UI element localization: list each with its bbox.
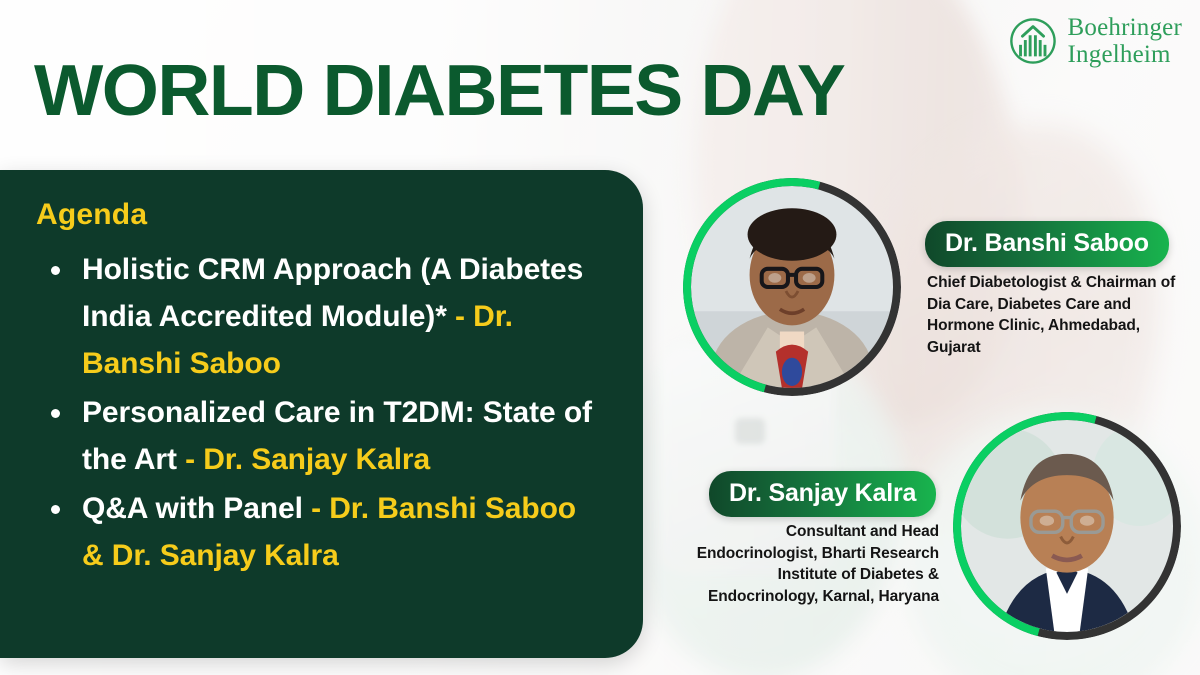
boehringer-ingelheim-logo-icon: [1009, 17, 1057, 65]
speaker-name-badge: Dr. Banshi Saboo: [925, 221, 1169, 267]
agenda-item-speaker: Dr. Sanjay Kalra: [203, 443, 430, 476]
avatar: [953, 412, 1181, 640]
agenda-item: Q&A with Panel - Dr. Banshi Saboo & Dr. …: [44, 485, 603, 579]
brand-logo: Boehringer Ingelheim: [1009, 14, 1182, 68]
page-title: WORLD DIABETES DAY: [34, 52, 844, 130]
speaker-bio: Chief Diabetologist & Chairman of Dia Ca…: [927, 272, 1193, 358]
agenda-item-separator: -: [447, 300, 473, 333]
avatar-ring-accent: [953, 412, 1181, 640]
agenda-item: Holistic CRM Approach (A Diabetes India …: [44, 246, 603, 387]
agenda-heading: Agenda: [36, 198, 603, 232]
speaker-name-badge: Dr. Sanjay Kalra: [709, 471, 936, 517]
agenda-item-separator: -: [177, 443, 203, 476]
brand-logo-text: Boehringer Ingelheim: [1068, 14, 1182, 68]
speaker-bio: Consultant and Head Endocrinologist, Bha…: [673, 521, 939, 607]
brand-logo-line1: Boehringer: [1068, 14, 1182, 41]
brand-logo-line2: Ingelheim: [1068, 41, 1182, 68]
avatar: [683, 178, 901, 396]
world-diabetes-day-slide: WORLD DIABETES DAY Boehringer Ingelheim …: [0, 0, 1200, 675]
avatar-ring-accent: [683, 178, 901, 396]
agenda-item-topic: Q&A with Panel: [82, 492, 303, 525]
agenda-item-separator: -: [303, 492, 329, 525]
agenda-item: Personalized Care in T2DM: State of the …: [44, 389, 603, 483]
agenda-panel: Agenda Holistic CRM Approach (A Diabetes…: [0, 170, 643, 658]
agenda-list: Holistic CRM Approach (A Diabetes India …: [36, 246, 603, 579]
